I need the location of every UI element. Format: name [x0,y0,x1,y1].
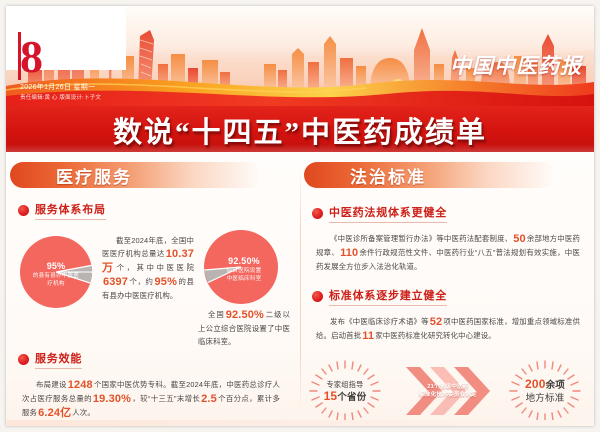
subsection-service-efficiency: 服务效能 [18,350,298,369]
page-header: 8 2026年1月26日 星期一 责任编辑:黄 心 版面设计:卜子文 中国中医药… [6,6,594,106]
subsection-heading: 服务效能 [35,350,82,369]
bullet-dot-icon [18,354,29,365]
badge-line-1: 200余项 [525,378,565,392]
text-seg: 《中医诊所备案管理暂行办法》等中医药法配套制度、 [330,234,512,243]
paragraph-standards-system: 发布《中医临床诊疗术语》等52项中医药国家标准，增加重点领域标准供给。启动首批1… [316,315,580,343]
subsection-service-layout: 服务体系布局 [18,201,298,220]
stat-number: 19.30% [92,393,132,405]
badge-line-2: 地方标准 [526,392,565,405]
newspaper-page: 8 2026年1月26日 星期一 责任编辑:黄 心 版面设计:卜子文 中国中医药… [0,0,600,432]
pie-chart-svg [16,232,96,312]
masthead-logo: 中国中医药报 [450,50,582,80]
pie-chart-county-coverage: 95% 的县有县办中医医疗机构 [16,232,96,317]
subsection-legal-system: 中医药法规体系更健全 [312,204,592,223]
badge-line-2: 标准化技术委员会制定 [409,391,487,400]
paragraph-service-layout-left: 截至2024年底，全国中医医疗机构总量达10.37万个，其中中医医院6397个，… [102,234,194,302]
badge-line-1: 21个省级中医药 [409,383,487,392]
page-body: 医疗服务 服务体系布局 95% [6,152,594,426]
section-banner-medical-services: 医疗服务 [10,162,262,188]
text-seg: 家中医药标准化研究转化中心建设。 [375,331,496,340]
badge-unit: 余项 [546,380,565,391]
bullet-dot-icon [312,291,323,302]
subsection-heading: 中医药法规体系更健全 [329,204,447,223]
stat-number: 6397 [102,276,129,288]
paper-sheet: 8 2026年1月26日 星期一 责任编辑:黄 心 版面设计:卜子文 中国中医药… [6,6,594,426]
stat-number: 92.50% [225,309,265,321]
column-divider [300,164,301,414]
stat-number: 11 [361,330,375,342]
stat-badge-group: 专家组指导 15个省份 21个省级中医药 标准化技术委员会制定 [304,357,592,425]
paragraph-service-layout-right: 全国92.50%二级以上公立综合医院设置了中医临床科室。 [198,308,290,348]
stat-number: 95% [154,276,178,288]
text-seg: 个，约 [129,277,153,286]
section-banner-label: 法治标准 [350,163,426,188]
badge-unit: 个省份 [337,392,366,403]
text-seg: 布局建设 [36,380,67,389]
stat-number: 52 [429,316,444,328]
text-seg: ，较“十三五”末增长 [132,394,200,403]
badge-number: 200 [525,377,546,391]
page-number: 8 [20,34,42,80]
page-title: 数说“十四五”中医药成绩单 [6,108,594,152]
stat-badge-local-standards: 200余项 地方标准 [508,359,582,423]
stat-number: 1248 [67,379,94,391]
stat-number: 6.24亿 [37,407,72,419]
paragraph-legal-system: 《中医诊所备案管理暂行办法》等中医药法配套制度、50余部地方中医药规章、110余… [316,232,580,273]
editor-credits: 责任编辑:黄 心 版面设计:卜子文 [20,93,101,101]
stat-number: 50 [512,233,527,245]
bullet-dot-icon [18,205,29,216]
text-seg: 人次。 [72,408,95,417]
stat-badge-expert-guidance: 专家组指导 15个省份 [308,359,382,423]
text-seg: 全国 [208,310,225,319]
subsection-heading: 服务体系布局 [35,201,106,220]
pie-chart-row: 95% 的县有县办中医医疗机构 截至2024年底，全国中医医疗机构总量达10.3… [10,226,298,322]
badge-line-2: 15个省份 [324,390,367,404]
stat-number: 2.5 [200,393,218,405]
section-banner-legal-standards: 法治标准 [304,162,556,188]
footer-strip [6,420,594,426]
publication-date: 2026年1月26日 星期一 [20,82,95,92]
pie-chart-svg [200,226,282,308]
paragraph-service-efficiency: 布局建设1248个国家中医优势专科。截至2024年底，中医药总诊疗人次占医疗服务… [22,378,280,420]
text-seg: 发布《中医临床诊疗术语》等 [330,317,429,326]
stat-badge-provincial-committees: 21个省级中医药 标准化技术委员会制定 [404,359,492,423]
subsection-heading: 标准体系逐步建立健全 [329,287,447,306]
badge-number: 15 [324,389,338,403]
pie-chart-hospital-tcm-dept: 92.50% 综合医院设置中医临床科室 [200,226,282,313]
stat-number: 110 [339,247,359,259]
subsection-standards-system: 标准体系逐步建立健全 [312,287,592,306]
left-column: 医疗服务 服务体系布局 95% [10,152,298,426]
text-seg: 个，其中中医医院 [117,263,194,272]
section-banner-label: 医疗服务 [56,163,132,188]
bullet-dot-icon [312,208,323,219]
right-column: 法治标准 中医药法规体系更健全 《中医诊所备案管理暂行办法》等中医药法配套制度、… [304,152,592,426]
